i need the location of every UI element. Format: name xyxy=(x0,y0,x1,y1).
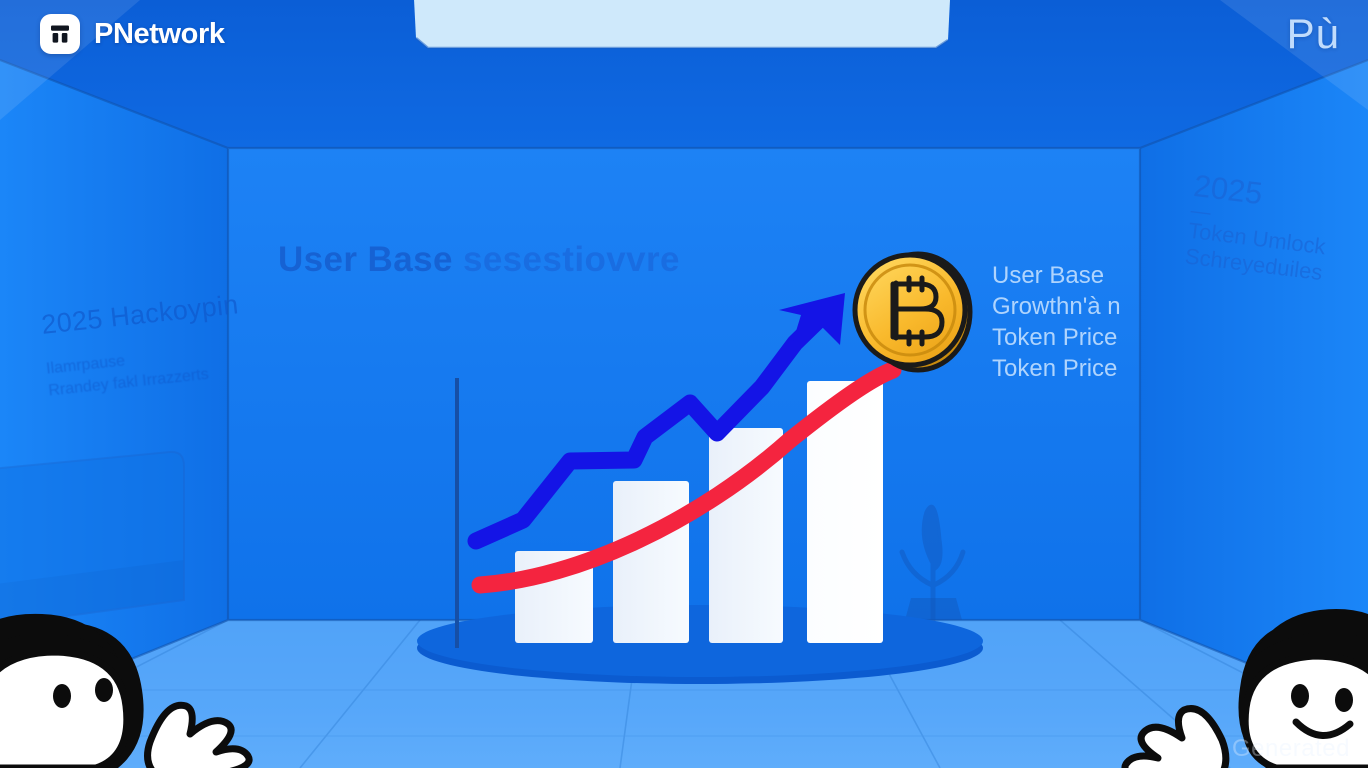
eye-right xyxy=(95,678,113,702)
watermark-label: Generated xyxy=(1232,735,1350,763)
wall-bench-shape xyxy=(0,452,184,628)
eye-right xyxy=(1335,688,1353,712)
illustration-scene: PNetwork Pù User Base sesestiovvre User … xyxy=(0,0,1368,768)
eye-left xyxy=(53,684,71,708)
room-illustration xyxy=(0,0,1368,768)
brand-name: PNetwork xyxy=(94,18,225,51)
eye-left xyxy=(1291,684,1309,708)
chart-platform xyxy=(417,605,983,684)
ceiling-light-panel xyxy=(412,0,952,48)
brand-logo[interactable]: PNetwork xyxy=(40,14,225,54)
bitcoin-coin-icon xyxy=(855,254,970,370)
pnetwork-logo-icon xyxy=(40,14,80,54)
bar-2 xyxy=(613,481,689,643)
corner-glyph: Pù xyxy=(1287,10,1340,58)
plant-pot xyxy=(905,598,962,620)
